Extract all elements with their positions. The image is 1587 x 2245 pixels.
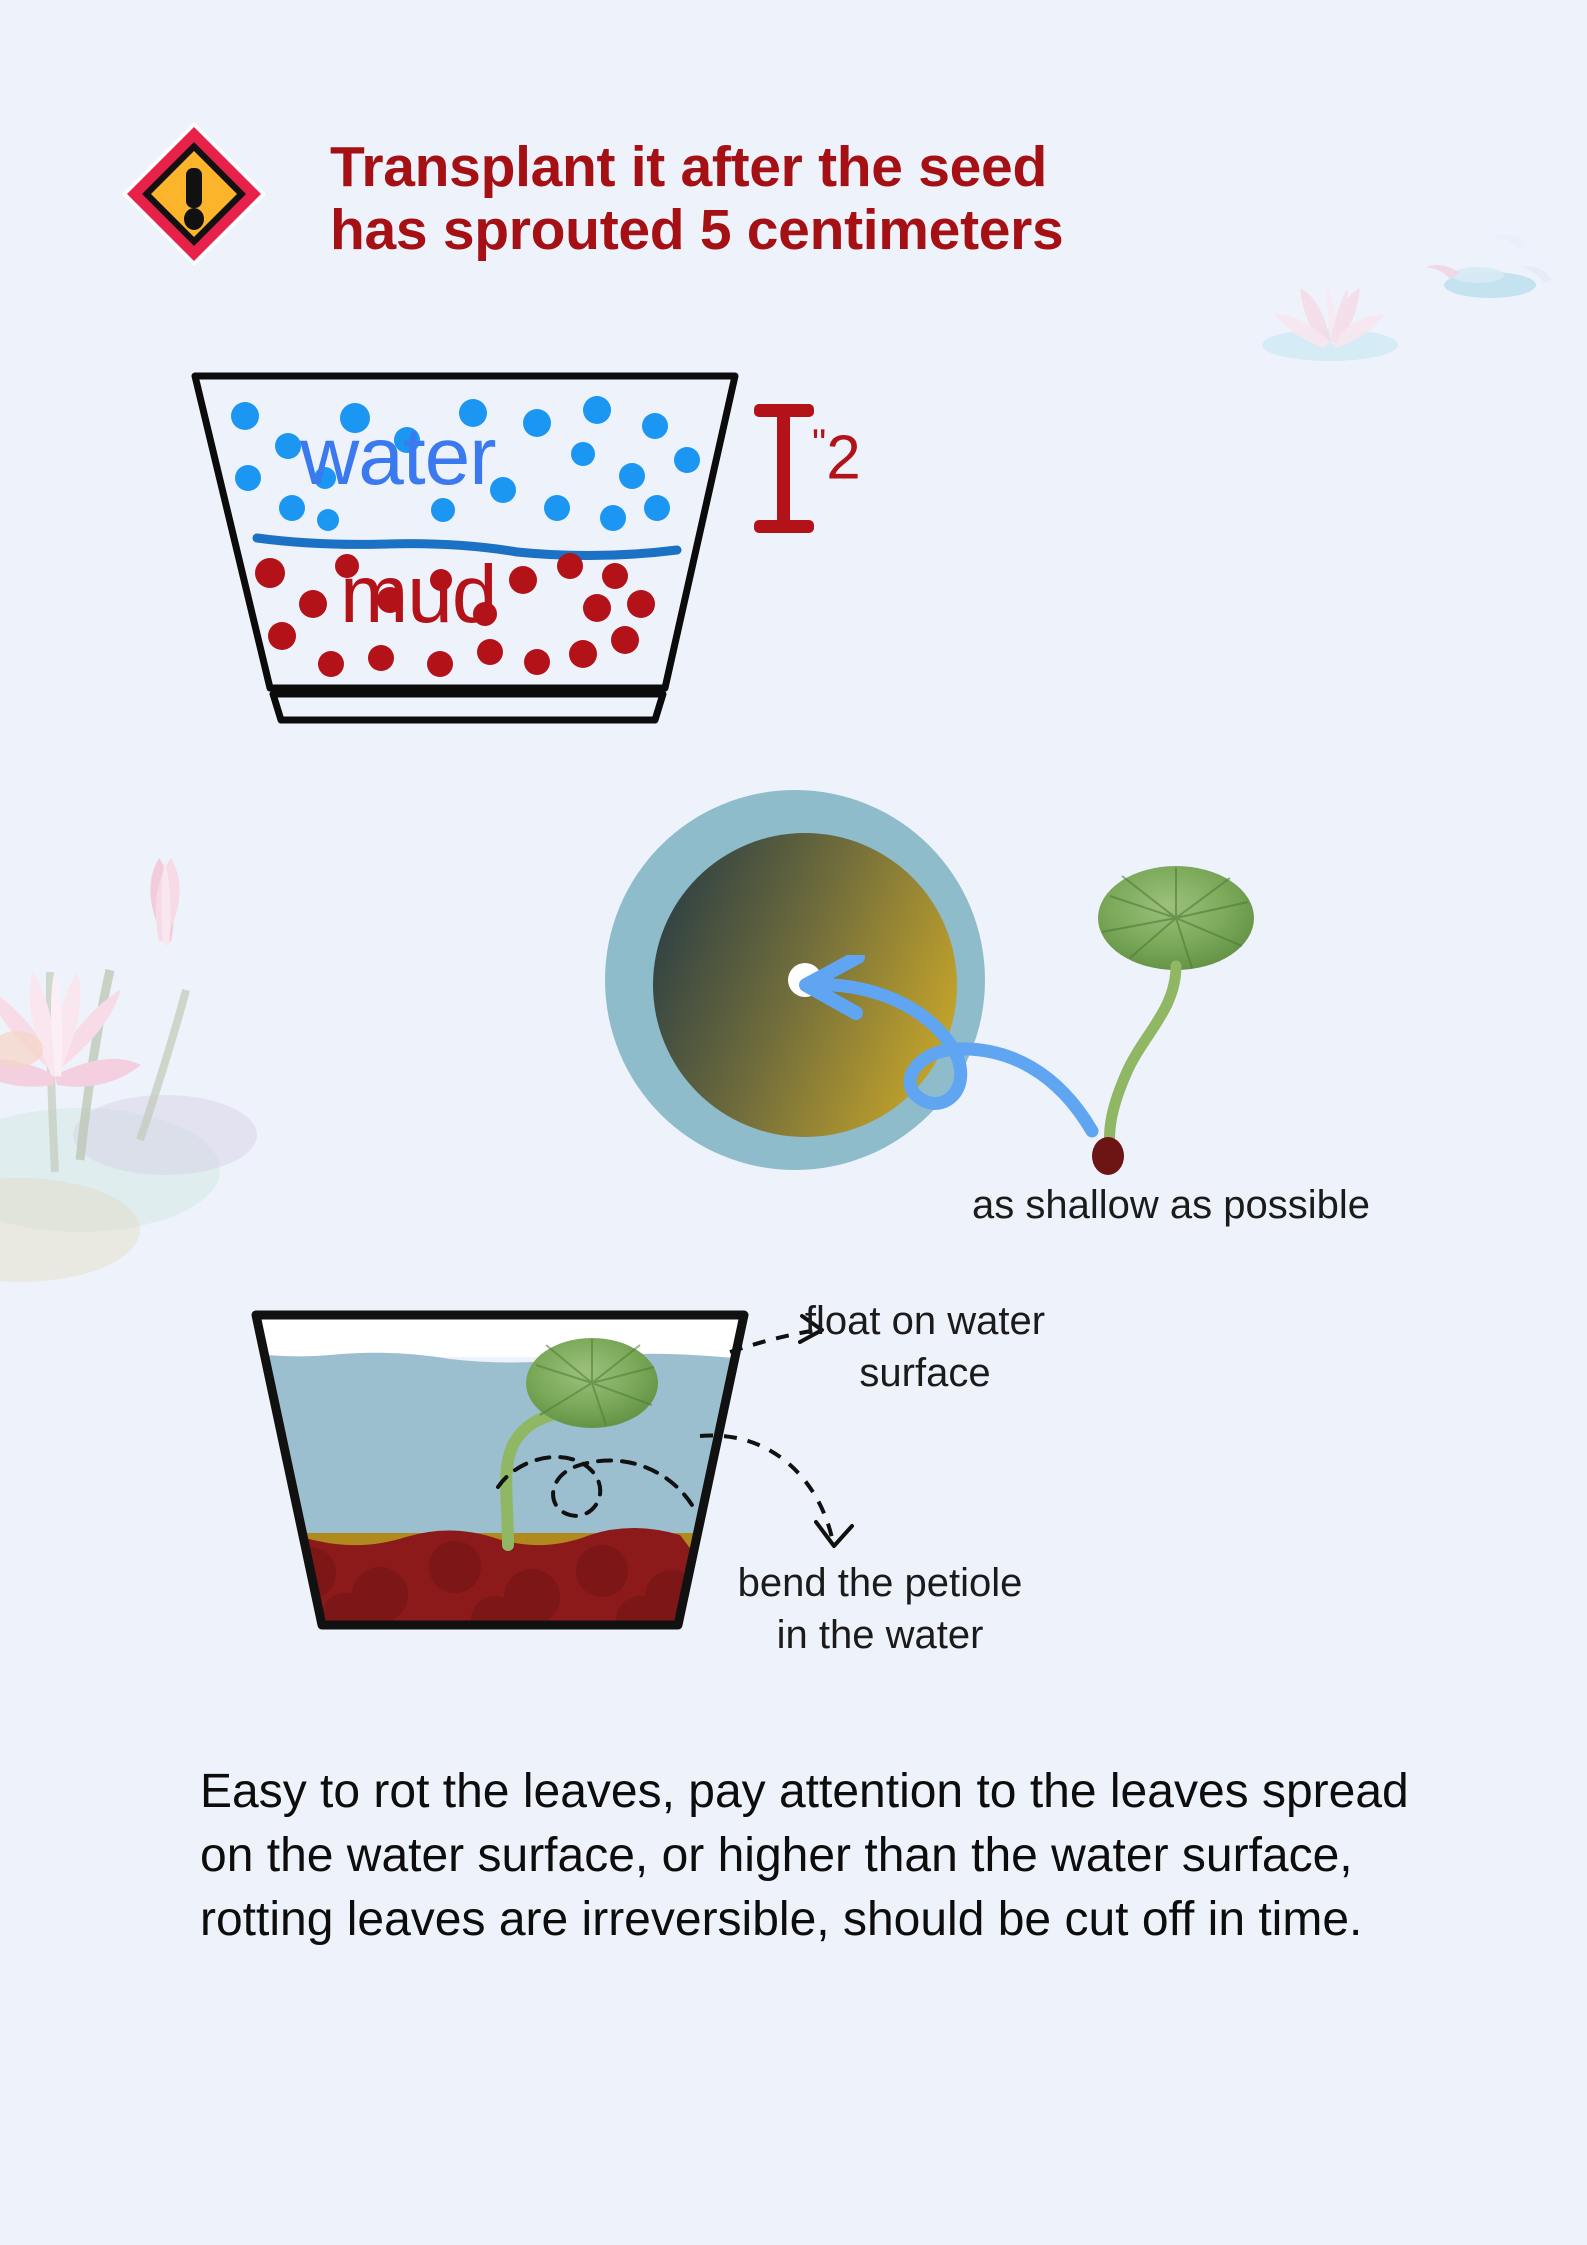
caption-bend-line-2: in the water [700,1609,1060,1661]
measurement-label: "2 [812,422,861,494]
seed-root [1092,1137,1124,1175]
caption-float-on-water: float on water surface [760,1295,1090,1399]
lotus-decoration-left [0,740,320,1300]
caption-float-line-2: surface [760,1347,1090,1399]
title-line-1: Transplant it after the seed [330,136,1330,199]
warning-exclamation-diamond-icon [118,118,270,270]
caption-bend-line-1: bend the petiole [700,1557,1060,1609]
lotus-seedling [1080,860,1260,1180]
infographic-canvas: Transplant it after the seed has sproute… [0,0,1587,2245]
caption-float-line-1: float on water [760,1295,1090,1347]
caption-bend-petiole: bend the petiole in the water [700,1557,1060,1661]
page-title: Transplant it after the seed has sproute… [330,136,1330,261]
measurement-value: 2 [826,424,860,493]
footer-paragraph: Easy to rot the leaves, pay attention to… [200,1760,1470,1951]
water-label: water [300,410,496,504]
title-line-2: has sprouted 5 centimeters [330,199,1330,262]
caption-as-shallow-as-possible: as shallow as possible [972,1183,1370,1228]
inch-symbol: " [812,422,826,466]
planting-direction-arrow [790,955,1120,1155]
leaf-icon [1098,866,1254,970]
mud-label: mud [340,548,497,642]
